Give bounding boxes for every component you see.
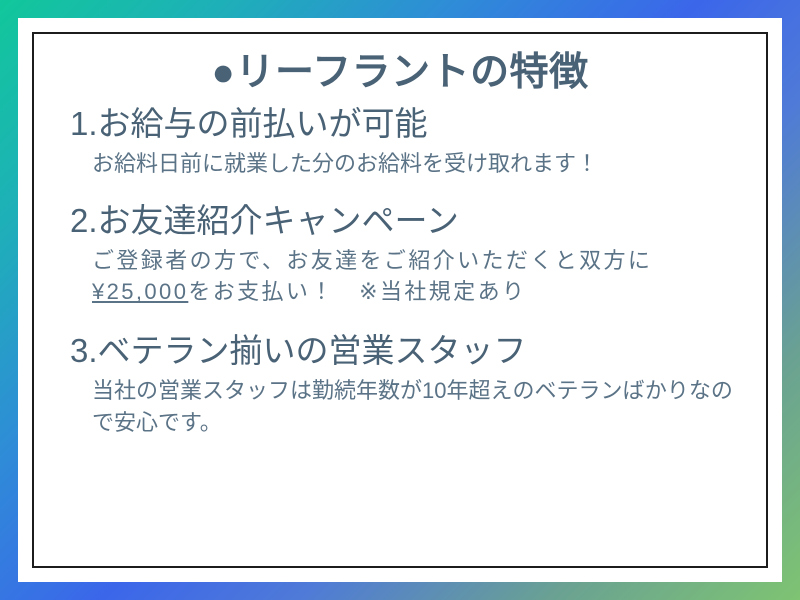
slide-background: ●リーフラントの特徴 1.お給与の前払いが可能 お給料日前に就業した分のお給料を… [0, 0, 800, 600]
feature-item-2: 2.お友達紹介キャンペーン ご登録者の方で、お友達をご紹介いただくと双方に¥25… [70, 200, 744, 309]
feature-1-body: お給料日前に就業した分のお給料を受け取れます！ [70, 148, 744, 180]
feature-list: 1.お給与の前払いが可能 お給料日前に就業した分のお給料を受け取れます！ 2.お… [56, 103, 744, 439]
feature-2-body-line-2-rest: をお支払い！ ※当社規定あり [188, 279, 526, 304]
content-frame: ●リーフラントの特徴 1.お給与の前払いが可能 お給料日前に就業した分のお給料を… [32, 32, 768, 568]
page-title: ●リーフラントの特徴 [56, 44, 744, 101]
feature-3-heading: 3.ベテラン揃いの営業スタッフ [70, 330, 744, 373]
feature-3-body: 当社の営業スタッフは勤続年数が10年超えのベテランばかりなので安心です。 [70, 375, 744, 439]
feature-2-body-line-1: ご登録者の方で、お友達をご紹介いただくと双方に [92, 248, 652, 273]
feature-2-body: ご登録者の方で、お友達をご紹介いただくと双方に¥25,000をお支払い！ ※当社… [70, 245, 744, 309]
feature-item-1: 1.お給与の前払いが可能 お給料日前に就業した分のお給料を受け取れます！ [70, 103, 744, 180]
feature-1-heading: 1.お給与の前払いが可能 [70, 103, 744, 146]
feature-item-3: 3.ベテラン揃いの営業スタッフ 当社の営業スタッフは勤続年数が10年超えのベテラ… [70, 330, 744, 439]
feature-2-heading: 2.お友達紹介キャンペーン [70, 200, 744, 243]
white-card: ●リーフラントの特徴 1.お給与の前払いが可能 お給料日前に就業した分のお給料を… [18, 18, 782, 582]
feature-2-amount: ¥25,000 [92, 279, 188, 304]
